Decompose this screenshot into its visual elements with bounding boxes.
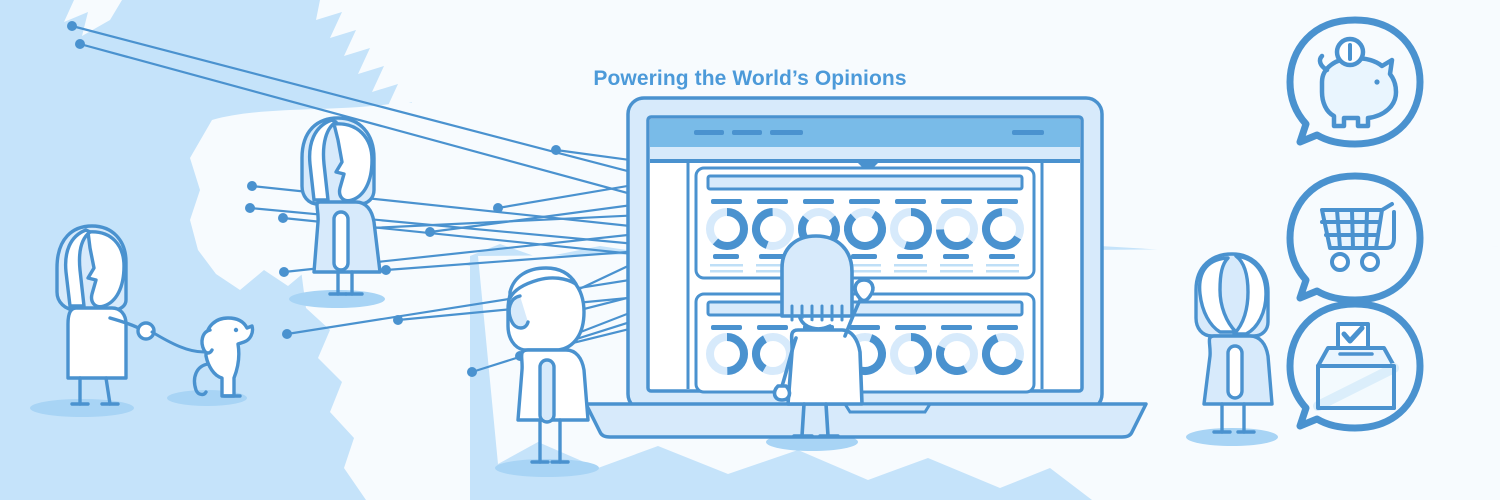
results-panel-bottom[interactable] bbox=[696, 294, 1034, 392]
donut-label bbox=[849, 199, 880, 204]
donut-value bbox=[851, 254, 877, 259]
donut-label bbox=[941, 199, 972, 204]
donut-value bbox=[943, 254, 969, 259]
hand-lowered bbox=[775, 386, 790, 400]
donut-label bbox=[941, 325, 972, 330]
donut-value bbox=[897, 254, 923, 259]
shirt-placket bbox=[540, 360, 554, 422]
leg-left bbox=[802, 404, 804, 436]
illustration-canvas: Powering the World’s Opinions bbox=[0, 0, 1500, 500]
torso bbox=[788, 330, 862, 404]
donut-label bbox=[711, 199, 742, 204]
hand-raised bbox=[855, 280, 873, 301]
results-panel-top[interactable] bbox=[696, 168, 1034, 278]
leg-right bbox=[826, 404, 828, 436]
donut-value bbox=[713, 254, 739, 259]
donut-label bbox=[757, 199, 788, 204]
donut-label bbox=[895, 199, 926, 204]
dress-placket bbox=[1228, 346, 1242, 398]
face bbox=[88, 232, 124, 307]
hair bbox=[782, 236, 852, 316]
donut-value bbox=[989, 254, 1015, 259]
nav-item-3[interactable] bbox=[770, 130, 803, 135]
donut-value bbox=[759, 254, 785, 259]
search-bar[interactable] bbox=[708, 302, 1022, 315]
donut-label bbox=[987, 325, 1018, 330]
search-bar[interactable] bbox=[708, 176, 1022, 189]
donut-label bbox=[757, 325, 788, 330]
nav-item-2[interactable] bbox=[732, 130, 762, 135]
donut-label bbox=[711, 325, 742, 330]
donut-label bbox=[803, 199, 834, 204]
scene-svg bbox=[0, 0, 1500, 500]
dress-placket bbox=[334, 212, 348, 270]
nav-item-1[interactable] bbox=[694, 130, 724, 135]
browser-subbar-rule bbox=[650, 159, 1080, 163]
browser-subbar bbox=[650, 147, 1080, 159]
nav-item-right[interactable] bbox=[1012, 130, 1044, 135]
laptop[interactable] bbox=[586, 98, 1146, 437]
donut-label bbox=[895, 325, 926, 330]
donut-label bbox=[987, 199, 1018, 204]
donut-label bbox=[849, 325, 880, 330]
dog-eye bbox=[234, 328, 238, 332]
